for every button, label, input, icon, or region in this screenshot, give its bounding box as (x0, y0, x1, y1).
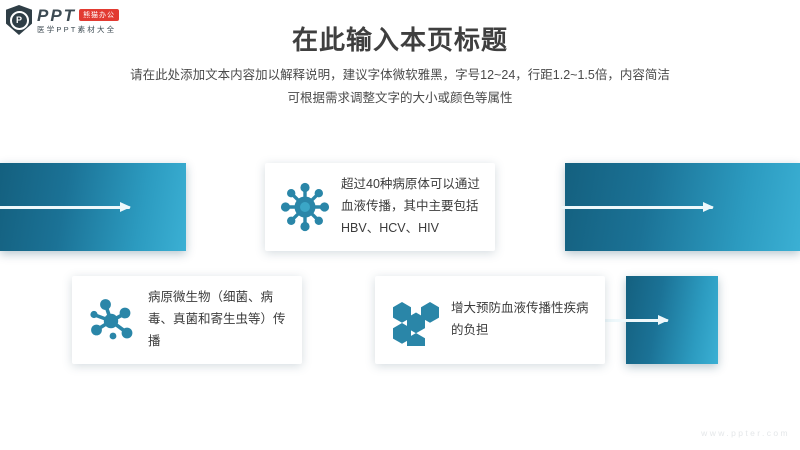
card-text: 超过40种病原体可以通过血液传播，其中主要包括HBV、HCV、HIV (341, 174, 481, 240)
content-card-3[interactable]: 增大预防血液传播性疾病的负担 (375, 276, 605, 364)
gradient-band-left (0, 163, 186, 251)
gradient-band-bottom-right (626, 276, 718, 364)
arrow-right-icon (561, 206, 713, 209)
subtitle-line-2: 可根据需求调整文字的大小或颜色等属性 (90, 87, 710, 110)
card-text: 病原微生物（细菌、病毒、真菌和寄生虫等）传播 (148, 287, 288, 353)
slide-canvas: P PPT 熊猫办公 医学PPT素材大全 在此输入本页标题 请在此处添加文本内容… (0, 0, 800, 450)
gradient-band-top-right (565, 163, 800, 251)
card-text: 增大预防血液传播性疾病的负担 (451, 298, 591, 342)
page-title: 在此输入本页标题 (0, 20, 800, 57)
hexagon-cluster-icon (389, 294, 441, 346)
subtitle-line-1: 请在此处添加文本内容加以解释说明，建议字体微软雅黑，字号12~24，行距1.2~… (90, 64, 710, 87)
arrow-right-icon (0, 206, 130, 209)
virus-icon (279, 181, 331, 233)
page-subtitle: 请在此处添加文本内容加以解释说明，建议字体微软雅黑，字号12~24，行距1.2~… (90, 64, 710, 110)
microbe-molecule-icon (86, 294, 138, 346)
watermark: www.ppter.com (701, 428, 790, 438)
content-card-1[interactable]: 超过40种病原体可以通过血液传播，其中主要包括HBV、HCV、HIV (265, 163, 495, 251)
arrow-right-icon (596, 319, 668, 322)
content-card-2[interactable]: 病原微生物（细菌、病毒、真菌和寄生虫等）传播 (72, 276, 302, 364)
